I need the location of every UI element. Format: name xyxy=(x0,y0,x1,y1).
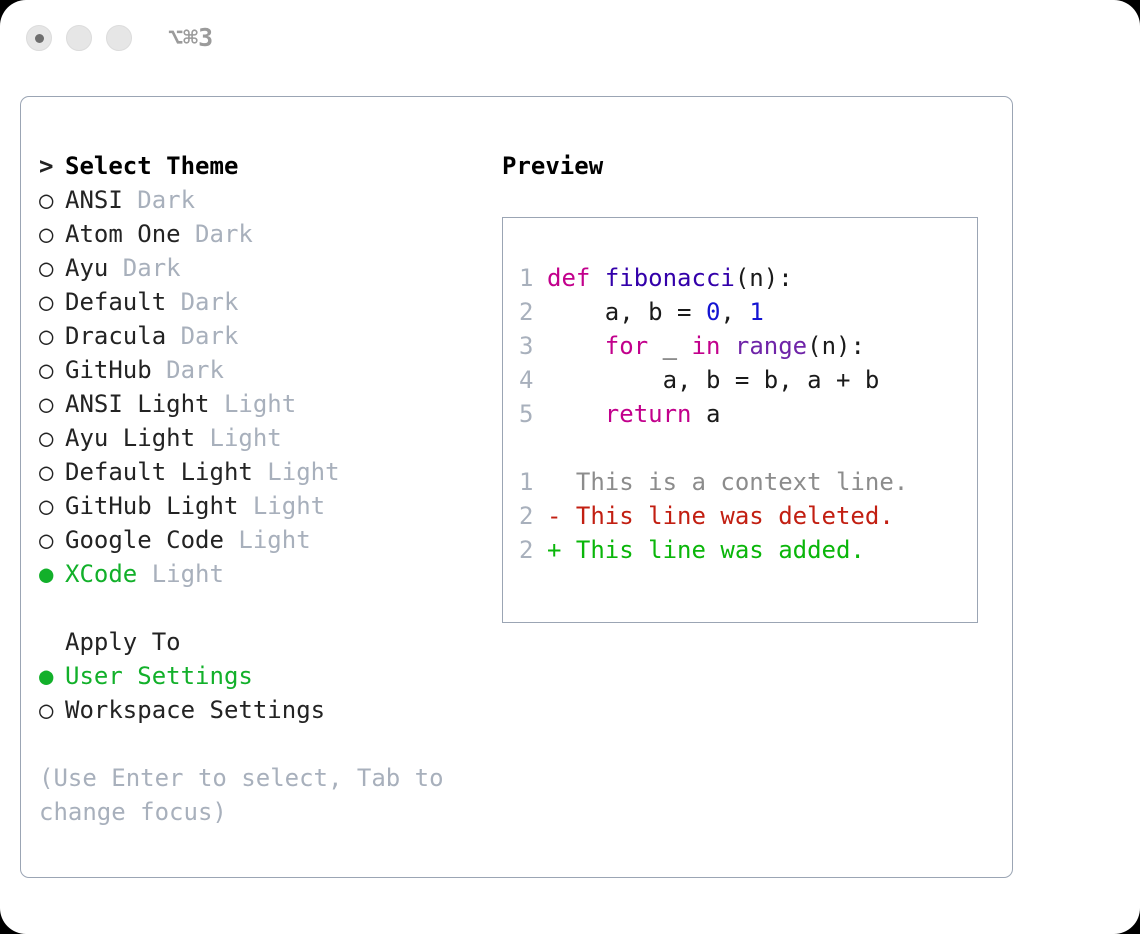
code-token: , xyxy=(720,298,749,326)
code-diff-separator xyxy=(519,431,971,465)
theme-variant-tag: Light xyxy=(137,560,224,588)
code-token: a, b = xyxy=(547,298,706,326)
window-dot-inner-icon xyxy=(35,34,44,43)
theme-option-label: GitHub Light xyxy=(65,492,238,520)
radio-unselected-icon: ○ xyxy=(39,353,65,387)
diff-line-text: + This line was added. xyxy=(547,536,865,564)
theme-option-dracula[interactable]: ○Dracula Dark xyxy=(39,319,469,353)
theme-variant-tag: Light xyxy=(195,424,282,452)
code-token: a xyxy=(692,400,721,428)
app-window: ⌥⌘3 >Select Theme ○ANSI Dark○Atom One Da… xyxy=(0,0,1140,934)
theme-variant-tag: Light xyxy=(238,492,325,520)
code-line-number: 5 xyxy=(519,397,547,431)
code-token xyxy=(590,264,604,292)
theme-option-label: ANSI xyxy=(65,186,123,214)
radio-unselected-icon: ○ xyxy=(39,421,65,455)
code-preview: 1def fibonacci(n):2 a, b = 0, 13 for _ i… xyxy=(519,261,971,567)
theme-option-ayu[interactable]: ○Ayu Dark xyxy=(39,251,469,285)
radio-unselected-icon: ○ xyxy=(39,217,65,251)
code-token: in xyxy=(692,332,721,360)
radio-unselected-icon: ○ xyxy=(39,489,65,523)
radio-unselected-icon: ○ xyxy=(39,183,65,217)
theme-option-default-light[interactable]: ○Default Light Light xyxy=(39,455,469,489)
theme-option-label: Default xyxy=(65,288,166,316)
theme-option-default[interactable]: ○Default Dark xyxy=(39,285,469,319)
diff-line-text: - This line was deleted. xyxy=(547,502,894,530)
preview-column: Preview 1def fibonacci(n):2 a, b = 0, 13… xyxy=(502,149,982,623)
code-token xyxy=(547,332,605,360)
code-line-number: 4 xyxy=(519,363,547,397)
code-line: 2 a, b = 0, 1 xyxy=(519,295,971,329)
code-line: 4 a, b = b, a + b xyxy=(519,363,971,397)
theme-variant-tag: Light xyxy=(224,526,311,554)
diff-line: 2+ This line was added. xyxy=(519,533,971,567)
radio-unselected-icon: ○ xyxy=(39,387,65,421)
code-token: (n): xyxy=(807,332,865,360)
code-line-number: 2 xyxy=(519,295,547,329)
theme-option-label: ANSI Light xyxy=(65,390,210,418)
theme-option-ansi[interactable]: ○ANSI Dark xyxy=(39,183,469,217)
theme-option-label: Default Light xyxy=(65,458,253,486)
theme-variant-tag: Light xyxy=(210,390,297,418)
code-token: (n): xyxy=(735,264,793,292)
code-line: 1def fibonacci(n): xyxy=(519,261,971,295)
theme-option-github-light[interactable]: ○GitHub Light Light xyxy=(39,489,469,523)
apply-to-option-label: User Settings xyxy=(65,662,253,690)
theme-option-label: Ayu xyxy=(65,254,108,282)
radio-unselected-icon: ○ xyxy=(39,693,65,727)
theme-option-xcode[interactable]: ●XCode Light xyxy=(39,557,469,591)
window-dot-active-icon[interactable] xyxy=(26,25,52,51)
code-token xyxy=(547,400,605,428)
code-line-number: 1 xyxy=(519,261,547,295)
radio-unselected-icon: ○ xyxy=(39,285,65,319)
theme-option-github[interactable]: ○GitHub Dark xyxy=(39,353,469,387)
theme-list: ○ANSI Dark○Atom One Dark○Ayu Dark○Defaul… xyxy=(39,183,469,591)
radio-selected-icon: ● xyxy=(39,659,65,693)
list-spacer xyxy=(39,591,469,625)
theme-option-google-code[interactable]: ○Google Code Light xyxy=(39,523,469,557)
theme-option-label: Google Code xyxy=(65,526,224,554)
theme-option-label: XCode xyxy=(65,560,137,588)
apply-to-option-list: ●User Settings○Workspace Settings xyxy=(39,659,469,727)
code-line: 3 for _ in range(n): xyxy=(519,329,971,363)
diff-line-number: 1 xyxy=(519,465,547,499)
theme-option-label: Atom One xyxy=(65,220,181,248)
theme-variant-tag: Dark xyxy=(166,322,238,350)
theme-variant-tag: Dark xyxy=(166,288,238,316)
code-token: fibonacci xyxy=(605,264,735,292)
prompt-caret-icon: > xyxy=(39,149,65,183)
select-theme-header-label: Select Theme xyxy=(65,152,238,180)
theme-variant-tag: Dark xyxy=(108,254,180,282)
radio-selected-icon: ● xyxy=(39,557,65,591)
theme-option-atom-one[interactable]: ○Atom One Dark xyxy=(39,217,469,251)
code-token: def xyxy=(547,264,590,292)
apply-to-option-workspace-settings[interactable]: ○Workspace Settings xyxy=(39,693,469,727)
code-line-number: 3 xyxy=(519,329,547,363)
theme-variant-tag: Dark xyxy=(181,220,253,248)
preview-title: Preview xyxy=(502,149,982,183)
diff-line-text: This is a context line. xyxy=(547,468,908,496)
theme-list-column: >Select Theme ○ANSI Dark○Atom One Dark○A… xyxy=(39,149,469,829)
theme-picker-panel: >Select Theme ○ANSI Dark○Atom One Dark○A… xyxy=(20,96,1013,878)
code-token: a, b = b, a + b xyxy=(547,366,879,394)
radio-unselected-icon: ○ xyxy=(39,251,65,285)
diff-line-number: 2 xyxy=(519,499,547,533)
apply-to-marker-icon xyxy=(39,625,65,659)
code-token: range xyxy=(735,332,807,360)
code-token: 0 xyxy=(706,298,720,326)
keyboard-shortcut-label: ⌥⌘3 xyxy=(168,22,213,54)
diff-line: 1 This is a context line. xyxy=(519,465,971,499)
keyboard-hint-text: (Use Enter to select, Tab to change focu… xyxy=(39,761,459,829)
code-token: 1 xyxy=(749,298,763,326)
theme-option-label: Dracula xyxy=(65,322,166,350)
radio-unselected-icon: ○ xyxy=(39,455,65,489)
preview-box: 1def fibonacci(n):2 a, b = 0, 13 for _ i… xyxy=(502,217,978,623)
radio-unselected-icon: ○ xyxy=(39,319,65,353)
apply-to-option-label: Workspace Settings xyxy=(65,696,325,724)
code-token xyxy=(720,332,734,360)
theme-option-ansi-light[interactable]: ○ANSI Light Light xyxy=(39,387,469,421)
theme-variant-tag: Dark xyxy=(123,186,195,214)
code-token: _ xyxy=(648,332,691,360)
theme-option-label: Ayu Light xyxy=(65,424,195,452)
apply-to-option-user-settings[interactable]: ●User Settings xyxy=(39,659,469,693)
code-line: 5 return a xyxy=(519,397,971,431)
diff-line-number: 2 xyxy=(519,533,547,567)
theme-option-ayu-light[interactable]: ○Ayu Light Light xyxy=(39,421,469,455)
theme-variant-tag: Light xyxy=(253,458,340,486)
code-token: for xyxy=(605,332,648,360)
code-token: return xyxy=(605,400,692,428)
window-dot-2-icon[interactable] xyxy=(66,25,92,51)
theme-variant-tag: Dark xyxy=(152,356,224,384)
apply-to-header: Apply To xyxy=(39,625,469,659)
select-theme-header: >Select Theme xyxy=(39,149,469,183)
theme-option-label: GitHub xyxy=(65,356,152,384)
window-dot-3-icon[interactable] xyxy=(106,25,132,51)
diff-line: 2- This line was deleted. xyxy=(519,499,971,533)
title-bar: ⌥⌘3 xyxy=(0,0,1140,78)
radio-unselected-icon: ○ xyxy=(39,523,65,557)
apply-to-header-label: Apply To xyxy=(65,628,181,656)
